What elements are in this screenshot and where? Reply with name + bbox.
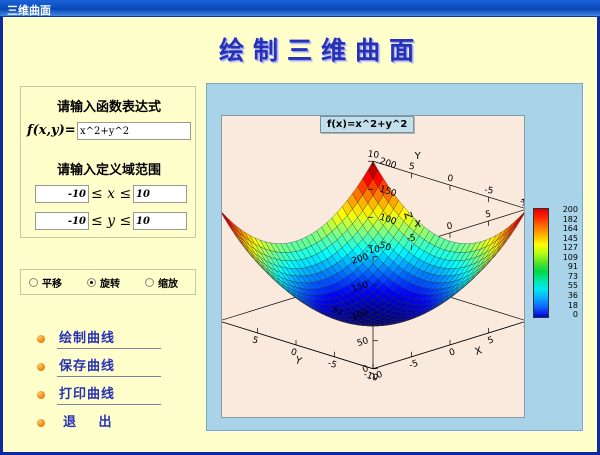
menu-divider [57,404,161,405]
colorbar-tick-label: 91 [568,262,578,271]
application-window: 三维曲面 绘制三维曲面 请输入函数表达式 f(x,y)= 请输入定义域范围 ≤ … [0,0,600,455]
menu-item-exit[interactable]: 退 出 [37,411,167,439]
colorbar: 20018216414512710991735536180 [533,208,579,326]
bullet-icon [37,363,45,371]
svg-text:-5: -5 [326,359,338,371]
menu-item-label: 退 出 [63,411,121,430]
function-input-group: 请输入函数表达式 f(x,y)= 请输入定义域范围 ≤ x ≤ ≤ y ≤ [20,86,196,238]
svg-text:0: 0 [448,347,457,358]
radio-rotate[interactable]: 旋转 [87,275,120,290]
menu-item-label: 保存曲线 [59,355,115,374]
colorbar-tick-label: 182 [563,215,578,224]
radio-rotate-label: 旋转 [100,275,120,290]
svg-text:5: 5 [251,335,260,346]
svg-text:X: X [414,219,421,230]
function-expression-input[interactable] [77,122,191,140]
colorbar-tick-label: 109 [563,253,578,262]
svg-text:0: 0 [447,174,454,185]
bullet-icon [37,419,45,427]
radio-pan-label: 平移 [42,275,62,290]
fxy-label: f(x,y)= [27,123,76,138]
svg-text:5: 5 [408,162,415,173]
svg-text:-5: -5 [408,359,420,371]
plot-panel: f(x)=x^2+y^2 -10-505101050-5-10XY0501001… [206,83,583,431]
radio-scale-label: 缩放 [158,275,178,290]
menu-item-save-curve[interactable]: 保存曲线 [37,355,167,383]
colorbar-tick-label: 127 [563,243,578,252]
colorbar-tick-label: 18 [568,301,578,310]
svg-text:5: 5 [487,335,496,346]
page-title: 绘制三维曲面 [151,31,491,67]
menu-item-draw-curve[interactable]: 绘制曲线 [37,327,167,355]
radio-scale[interactable]: 缩放 [145,275,178,290]
radio-dot-icon [87,278,96,287]
svg-text:10: 10 [522,322,524,335]
svg-text:200: 200 [378,157,398,172]
view-mode-group: 平移 旋转 缩放 [20,269,196,295]
plot-axes-area[interactable]: -10-505101050-5-10XY050100150200Z5010015… [221,115,525,418]
x-inequality-label: ≤ x ≤ [91,186,131,202]
svg-text:-10: -10 [519,197,524,209]
radio-dot-icon [145,278,154,287]
command-menu: 绘制曲线 保存曲线 打印曲线 退 出 [37,327,167,439]
domain-prompt-label: 请输入定义域范围 [21,159,197,178]
x-max-input[interactable] [133,185,187,203]
svg-text:0: 0 [446,222,453,233]
function-prompt-label: 请输入函数表达式 [21,96,197,115]
y-inequality-label: ≤ y ≤ [91,213,131,229]
bullet-icon [37,391,45,399]
colorbar-tick-label: 36 [568,291,578,300]
menu-item-label: 绘制曲线 [59,327,115,346]
colorbar-gradient [533,208,549,318]
plot-legend: f(x)=x^2+y^2 [320,116,414,133]
colorbar-tick-label: 55 [568,281,578,290]
svg-text:X: X [474,345,484,358]
x-min-input[interactable] [35,185,89,203]
window-title-bar: 三维曲面 [0,0,600,17]
menu-item-label: 打印曲线 [59,383,115,402]
surface-plot-svg: -10-505101050-5-10XY050100150200Z5010015… [222,116,524,417]
svg-text:50: 50 [356,336,370,349]
menu-divider [57,348,161,349]
radio-dot-icon [29,278,38,287]
svg-text:5: 5 [485,210,492,221]
svg-text:-5: -5 [406,233,416,244]
svg-text:10: 10 [367,150,380,162]
svg-text:Y: Y [414,151,422,162]
y-min-input[interactable] [35,212,89,230]
window-client-area: 绘制三维曲面 请输入函数表达式 f(x,y)= 请输入定义域范围 ≤ x ≤ ≤… [0,17,600,455]
menu-divider [57,376,161,377]
radio-pan[interactable]: 平移 [29,275,62,290]
colorbar-ticks: 20018216414512710991735536180 [552,204,578,322]
colorbar-tick-label: 164 [563,224,578,233]
menu-item-print-curve[interactable]: 打印曲线 [37,383,167,411]
bullet-icon [37,335,45,343]
colorbar-tick-label: 0 [573,310,578,319]
y-max-input[interactable] [133,212,187,230]
window-title: 三维曲面 [7,2,51,18]
colorbar-tick-label: 145 [563,234,578,243]
colorbar-tick-label: 73 [568,272,578,281]
colorbar-tick-label: 200 [563,205,578,214]
svg-text:-5: -5 [484,186,494,197]
